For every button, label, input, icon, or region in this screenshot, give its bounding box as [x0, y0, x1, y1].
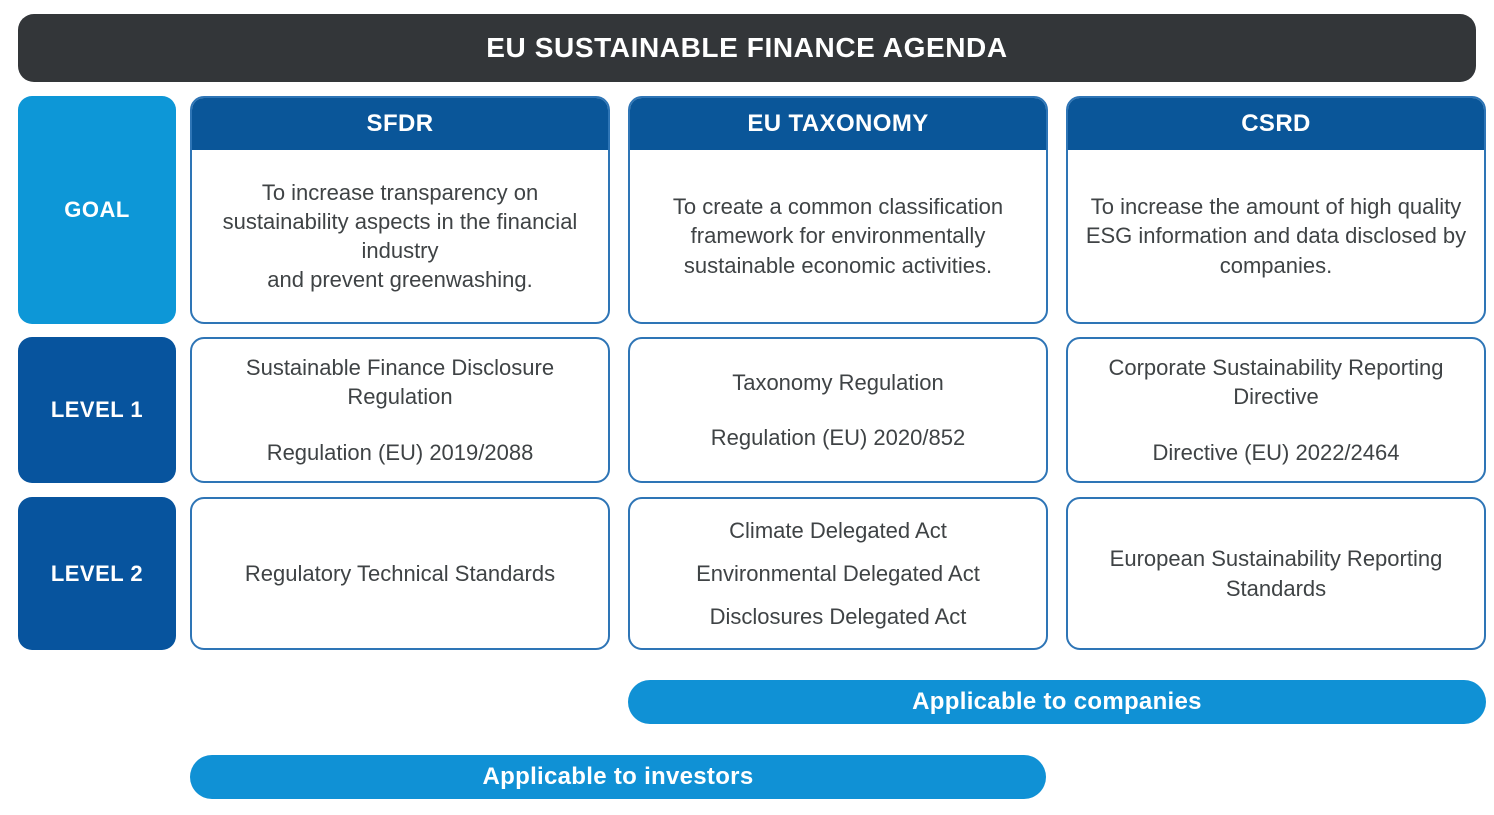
row-label-level-2: LEVEL 2	[18, 497, 176, 650]
card-body-level-1-taxonomy: Taxonomy Regulation Regulation (EU) 2020…	[630, 339, 1046, 481]
card-goal-csrd: CSRD To increase the amount of high qual…	[1066, 96, 1486, 324]
card-header-csrd-text: CSRD	[1241, 110, 1311, 138]
card-body-level-2-csrd: European Sustainability Reporting Standa…	[1068, 499, 1484, 648]
card-body-goal-sfdr: To increase transparency on sustainabili…	[192, 150, 608, 322]
card-header-csrd: CSRD	[1068, 98, 1484, 150]
level-2-taxonomy-line-3: Disclosures Delegated Act	[710, 602, 967, 631]
card-header-sfdr-text: SFDR	[367, 110, 434, 138]
row-label-goal: GOAL	[18, 96, 176, 324]
applicable-to-investors-bar: Applicable to investors	[190, 755, 1046, 799]
card-body-level-2-taxonomy: Climate Delegated Act Environmental Dele…	[630, 499, 1046, 648]
card-header-sfdr: SFDR	[192, 98, 608, 150]
level-1-csrd-line-2: Directive (EU) 2022/2464	[1152, 438, 1399, 467]
applicable-to-companies-label: Applicable to companies	[912, 688, 1202, 716]
card-body-level-2-sfdr: Regulatory Technical Standards	[192, 499, 608, 648]
level-1-sfdr-line-2: Regulation (EU) 2019/2088	[267, 438, 534, 467]
level-2-csrd-line-1: European Sustainability Reporting Standa…	[1082, 544, 1470, 602]
level-1-sfdr-line-1: Sustainable Finance Disclosure Regulatio…	[206, 353, 594, 411]
level-1-taxonomy-line-2: Regulation (EU) 2020/852	[711, 423, 965, 452]
goal-taxonomy-line-1: To create a common classification framew…	[644, 192, 1032, 279]
goal-sfdr-line-1: To increase transparency on sustainabili…	[206, 178, 594, 265]
applicable-to-investors-label: Applicable to investors	[483, 763, 754, 791]
card-body-goal-taxonomy: To create a common classification framew…	[630, 150, 1046, 322]
card-level-1-taxonomy: Taxonomy Regulation Regulation (EU) 2020…	[628, 337, 1048, 483]
card-body-level-1-sfdr: Sustainable Finance Disclosure Regulatio…	[192, 339, 608, 481]
level-1-taxonomy-line-1: Taxonomy Regulation	[732, 368, 944, 397]
level-2-sfdr-line-1: Regulatory Technical Standards	[245, 559, 555, 588]
card-goal-taxonomy: EU TAXONOMY To create a common classific…	[628, 96, 1048, 324]
row-label-level-2-text: LEVEL 2	[51, 561, 143, 587]
card-goal-sfdr: SFDR To increase transparency on sustain…	[190, 96, 610, 324]
goal-sfdr-line-2: and prevent greenwashing.	[267, 265, 532, 294]
card-body-level-1-csrd: Corporate Sustainability Reporting Direc…	[1068, 339, 1484, 481]
level-1-csrd-line-1: Corporate Sustainability Reporting Direc…	[1082, 353, 1470, 411]
card-level-1-sfdr: Sustainable Finance Disclosure Regulatio…	[190, 337, 610, 483]
row-label-goal-text: GOAL	[64, 197, 130, 223]
level-2-taxonomy-line-2: Environmental Delegated Act	[696, 559, 980, 588]
level-2-taxonomy-line-1: Climate Delegated Act	[729, 516, 947, 545]
applicable-to-companies-bar: Applicable to companies	[628, 680, 1486, 724]
goal-csrd-line-1: To increase the amount of high quality E…	[1082, 192, 1470, 279]
card-header-taxonomy-text: EU TAXONOMY	[747, 110, 928, 138]
card-level-2-csrd: European Sustainability Reporting Standa…	[1066, 497, 1486, 650]
row-label-level-1: LEVEL 1	[18, 337, 176, 483]
card-body-goal-csrd: To increase the amount of high quality E…	[1068, 150, 1484, 322]
card-level-1-csrd: Corporate Sustainability Reporting Direc…	[1066, 337, 1486, 483]
card-level-2-sfdr: Regulatory Technical Standards	[190, 497, 610, 650]
card-level-2-taxonomy: Climate Delegated Act Environmental Dele…	[628, 497, 1048, 650]
card-header-taxonomy: EU TAXONOMY	[630, 98, 1046, 150]
row-label-level-1-text: LEVEL 1	[51, 397, 143, 423]
